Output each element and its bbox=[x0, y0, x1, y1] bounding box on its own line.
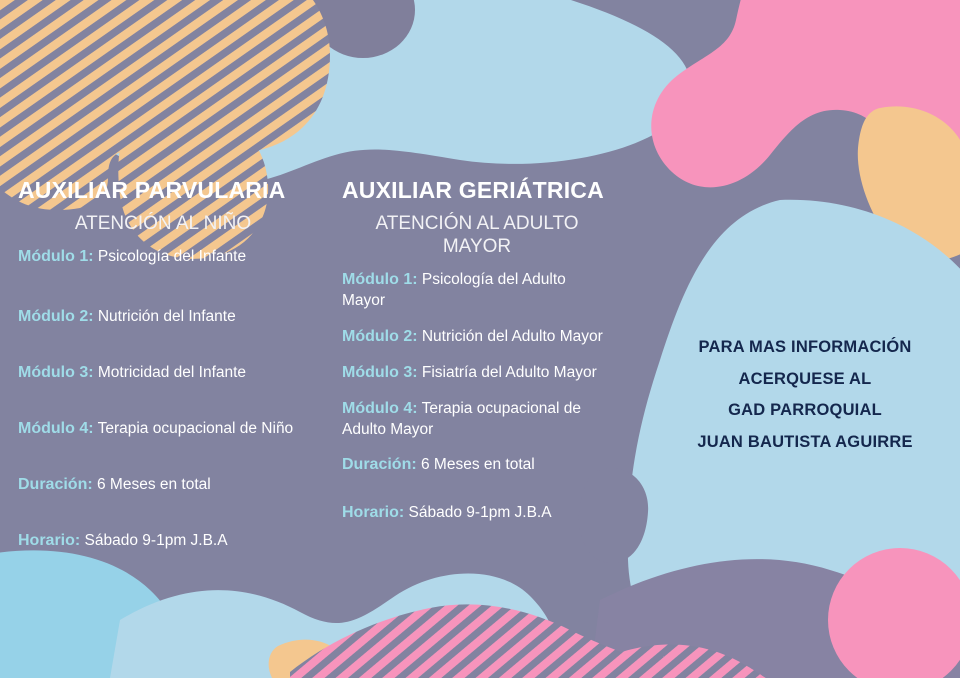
item-key: Horario: bbox=[342, 504, 404, 521]
course-item-parvularia-modulo-3: Módulo 3: Motricidad del Infante bbox=[18, 362, 338, 384]
course-item-geriatrica-horario: Horario: Sábado 9-1pm J.B.A bbox=[342, 502, 612, 524]
item-value: 6 Meses en total bbox=[421, 456, 535, 473]
course-item-geriatrica-modulo-1: Módulo 1: Psicología del Adulto Mayor bbox=[342, 269, 612, 312]
poster-canvas: AUXILIAR PARVULARIA ATENCIÓN AL NIÑO Mód… bbox=[0, 0, 960, 678]
course-item-parvularia-modulo-4: Módulo 4: Terapia ocupacional de Niño bbox=[18, 418, 338, 440]
course-item-geriatrica-modulo-2: Módulo 2: Nutrición del Adulto Mayor bbox=[342, 326, 612, 348]
item-value: Psicología del Infante bbox=[98, 248, 246, 265]
item-value: Terapia ocupacional de Niño bbox=[98, 420, 294, 437]
course-item-parvularia-modulo-1: Módulo 1: Psicología del Infante bbox=[18, 246, 338, 268]
poster-content: AUXILIAR PARVULARIA ATENCIÓN AL NIÑO Mód… bbox=[0, 0, 960, 678]
item-key: Módulo 3: bbox=[18, 364, 94, 381]
item-key: Módulo 1: bbox=[342, 271, 418, 288]
contact-info-block: PARA MAS INFORMACIÓN ACERQUESE AL GAD PA… bbox=[660, 332, 950, 459]
item-value: Nutrición del Adulto Mayor bbox=[422, 328, 603, 345]
item-key: Horario: bbox=[18, 532, 80, 549]
item-value: Fisiatría del Adulto Mayor bbox=[422, 364, 597, 381]
item-value: Sábado 9-1pm J.B.A bbox=[85, 532, 228, 549]
course-item-parvularia-horario: Horario: Sábado 9-1pm J.B.A bbox=[18, 530, 338, 552]
course-subtitle-geriatrica: ATENCIÓN AL ADULTO MAYOR bbox=[342, 213, 612, 259]
contact-info-line-4: JUAN BAUTISTA AGUIRRE bbox=[660, 427, 950, 459]
contact-info-line-2: ACERQUESE AL bbox=[660, 364, 950, 396]
item-key: Módulo 2: bbox=[18, 308, 94, 325]
course-title-geriatrica: AUXILIAR GERIÁTRICA bbox=[342, 178, 612, 203]
course-title-parvularia: AUXILIAR PARVULARIA bbox=[18, 178, 338, 203]
course-item-geriatrica-modulo-4: Módulo 4: Terapia ocupacional de Adulto … bbox=[342, 398, 612, 441]
course-column-geriatrica: AUXILIAR GERIÁTRICA ATENCIÓN AL ADULTO M… bbox=[342, 178, 612, 538]
course-column-parvularia: AUXILIAR PARVULARIA ATENCIÓN AL NIÑO Mód… bbox=[18, 178, 338, 552]
item-value: Sábado 9-1pm J.B.A bbox=[409, 504, 552, 521]
course-item-parvularia-duracion: Duración: 6 Meses en total bbox=[18, 474, 338, 496]
item-key: Módulo 4: bbox=[342, 400, 418, 417]
item-value: Nutrición del Infante bbox=[98, 308, 236, 325]
item-value: 6 Meses en total bbox=[97, 476, 211, 493]
course-item-parvularia-modulo-2: Módulo 2: Nutrición del Infante bbox=[18, 306, 338, 328]
item-value: Motricidad del Infante bbox=[98, 364, 246, 381]
contact-info-line-3: GAD PARROQUIAL bbox=[660, 395, 950, 427]
item-key: Duración: bbox=[18, 476, 93, 493]
course-subtitle-parvularia: ATENCIÓN AL NIÑO bbox=[18, 213, 338, 236]
item-key: Módulo 3: bbox=[342, 364, 418, 381]
course-item-geriatrica-duracion: Duración: 6 Meses en total bbox=[342, 454, 612, 476]
item-key: Módulo 4: bbox=[18, 420, 94, 437]
item-key: Módulo 1: bbox=[18, 248, 94, 265]
item-key: Módulo 2: bbox=[342, 328, 418, 345]
contact-info-line-1: PARA MAS INFORMACIÓN bbox=[660, 332, 950, 364]
item-key: Duración: bbox=[342, 456, 417, 473]
course-item-geriatrica-modulo-3: Módulo 3: Fisiatría del Adulto Mayor bbox=[342, 362, 612, 384]
